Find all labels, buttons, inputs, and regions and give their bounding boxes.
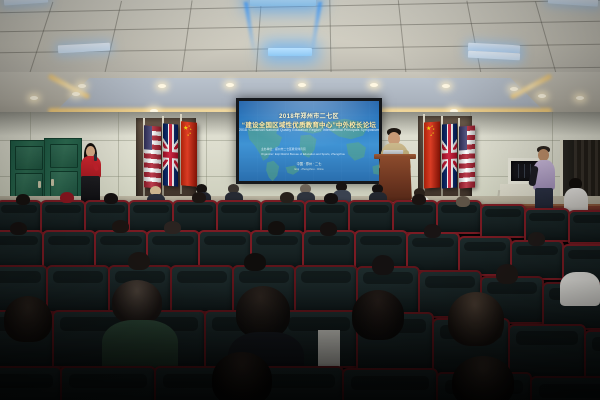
auditorium-seat[interactable] — [510, 240, 564, 280]
auditorium-seat[interactable] — [342, 368, 438, 400]
audience-hair — [412, 194, 426, 205]
photo-scene: ★ ★ ★ ★ ★ ★ ★ ★ ★ ★ — [0, 0, 600, 400]
audience-hair — [448, 292, 504, 346]
audience-hair — [452, 356, 514, 400]
audience-hair — [280, 192, 294, 203]
downlight — [298, 83, 306, 87]
audience-hair — [456, 196, 470, 207]
auditorium-seat[interactable] — [170, 265, 234, 313]
auditorium-seat[interactable] — [530, 376, 600, 400]
audience-hair — [324, 193, 338, 204]
downlight — [442, 84, 450, 88]
auditorium-seat[interactable] — [568, 210, 600, 244]
auditorium-seat[interactable] — [146, 230, 200, 270]
auditorium-seat[interactable] — [40, 200, 86, 234]
audience-hair — [192, 192, 206, 203]
screen-subtitle: 2018 “Construct National Quality Educati… — [239, 128, 379, 132]
audience-hair — [112, 280, 162, 324]
auditorium-seat[interactable] — [348, 200, 394, 234]
downlight — [226, 83, 234, 87]
audience-hair — [268, 221, 285, 235]
auditorium-seat[interactable] — [42, 230, 96, 270]
downlight — [72, 92, 80, 96]
auditorium-seat[interactable] — [0, 366, 62, 400]
ceiling-light-panel — [250, 0, 316, 6]
audience-hair — [164, 221, 181, 234]
audience-hair — [372, 255, 394, 275]
microphone-icon — [94, 154, 97, 161]
auditorium-seat[interactable] — [302, 230, 356, 270]
audience-hair — [10, 222, 27, 235]
auditorium-seat[interactable] — [60, 366, 156, 400]
auditorium-seat[interactable] — [480, 204, 526, 238]
audience-hair — [236, 286, 290, 338]
audience-hair — [528, 232, 545, 246]
screen-footer-en: Erqi · Zhengzhou · China — [239, 168, 379, 172]
auditorium-seat[interactable] — [294, 265, 358, 313]
audience-hair — [244, 253, 266, 271]
audience-hair — [104, 193, 118, 204]
downlight — [78, 84, 86, 88]
audience-hair — [4, 296, 52, 342]
audience-hair — [496, 264, 518, 284]
downlight — [538, 94, 546, 98]
audience-hair — [424, 224, 441, 238]
auditorium-seat[interactable] — [46, 265, 110, 313]
audience-hair — [320, 222, 337, 236]
audience-hair — [16, 194, 30, 205]
auditorium-seat[interactable] — [0, 230, 44, 270]
audience-hair — [352, 290, 404, 340]
downlight — [576, 96, 584, 100]
ceiling-light-panel — [268, 48, 312, 56]
audience-shirt — [318, 330, 340, 370]
audience-hair — [128, 252, 150, 270]
downlight — [30, 96, 38, 100]
downlight — [158, 84, 166, 88]
downlight — [510, 87, 518, 91]
projection-screen: 2018年郑州市二七区 “建设全国区域性优质教育中心”中外校长论坛 2018 “… — [236, 98, 382, 184]
wall-seam — [118, 112, 119, 204]
screen-organizer: 主办单位：郑州市二七区教育体育局 Organizer: Erqi Distric… — [261, 147, 369, 158]
downlight — [370, 83, 378, 87]
audience-hair — [60, 192, 74, 203]
screen-footer: 中国 · 郑州 · 二七 Erqi · Zhengzhou · China — [239, 162, 379, 172]
audience-torso — [560, 272, 600, 306]
screen-organizer-en: Organizer: Erqi District Bureau of Educa… — [261, 152, 369, 157]
auditorium-seat[interactable] — [216, 200, 262, 234]
audience-hair — [112, 220, 129, 233]
audience-hair — [212, 352, 272, 400]
